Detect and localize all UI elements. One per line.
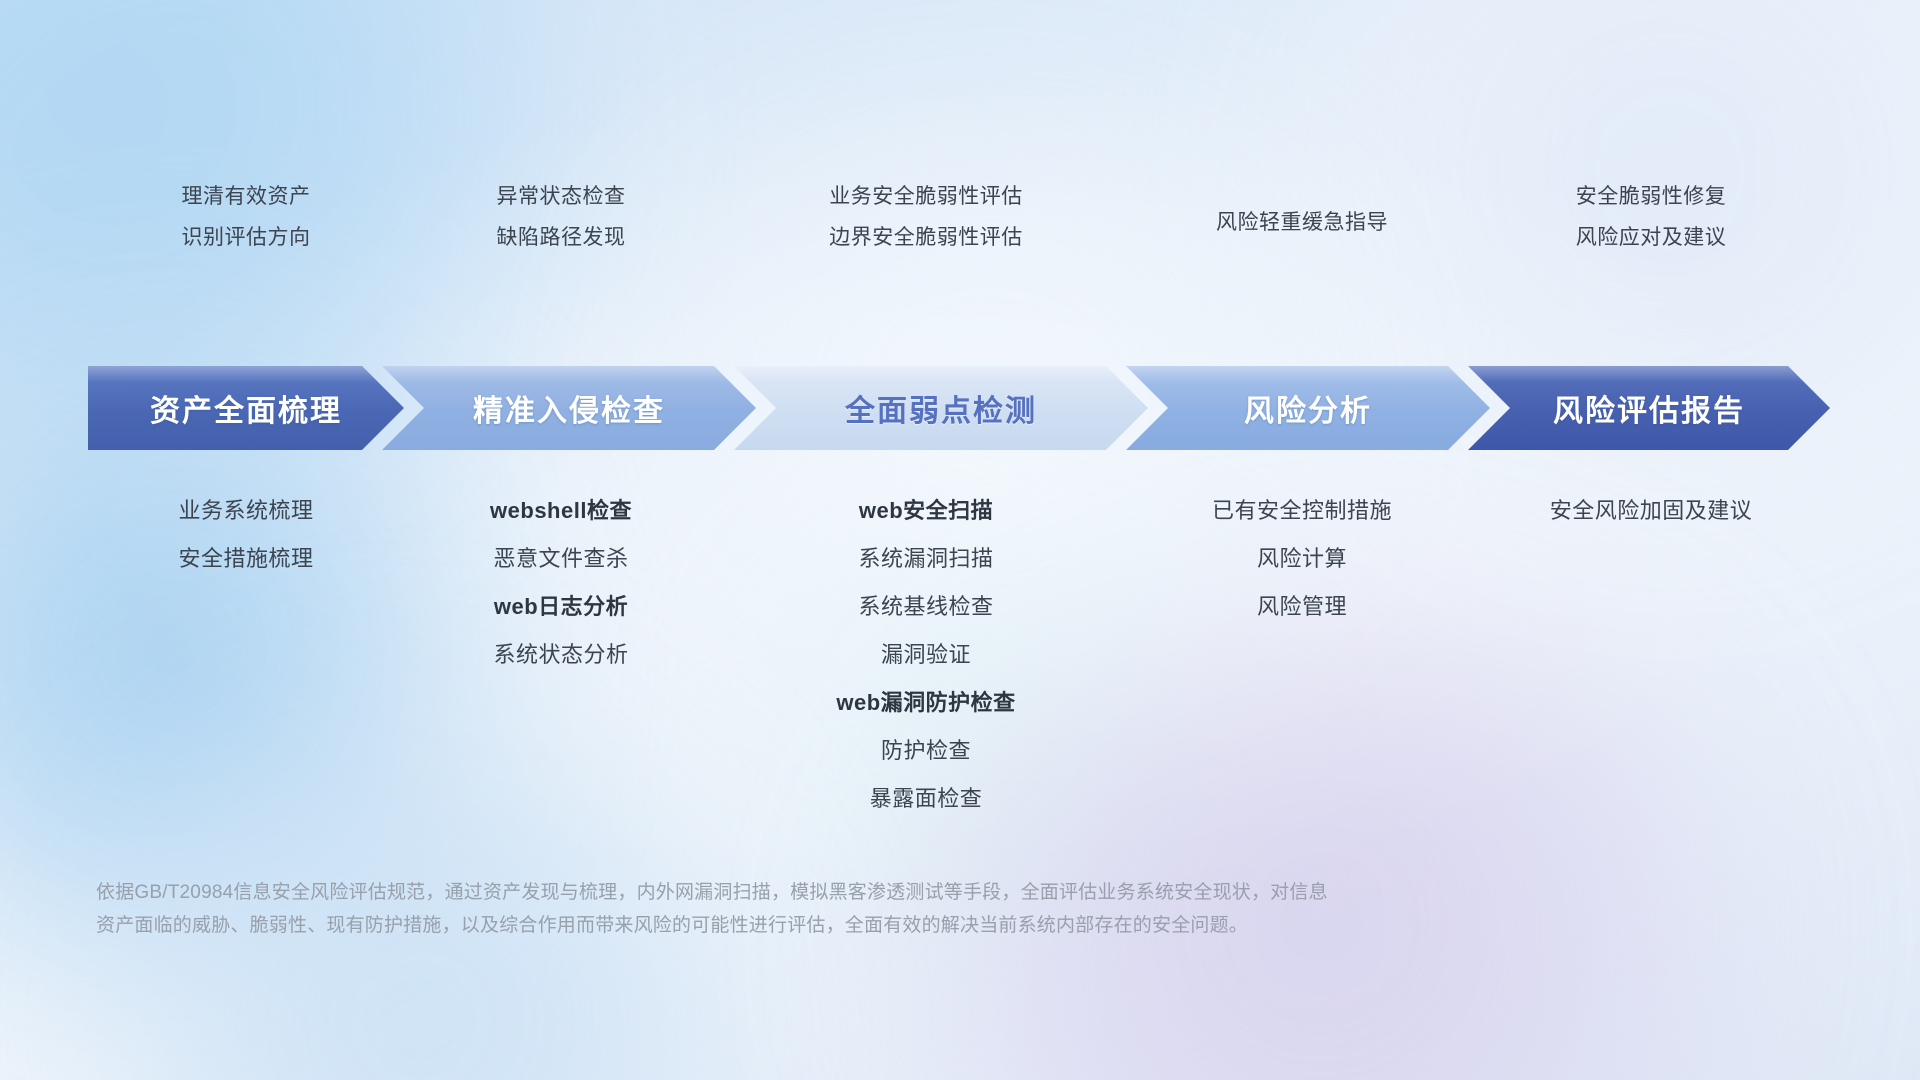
process-step-risk-analysis[interactable]: 风险分析 [1126, 366, 1490, 450]
footer-description-line: 依据GB/T20984信息安全风险评估规范，通过资产发现与梳理，内外网漏洞扫描，… [96, 876, 1616, 909]
stage-detail-item: 风险管理 [1257, 596, 1347, 618]
stage-detail-item: 防护检查 [881, 740, 971, 762]
chevron-highlight [88, 366, 404, 382]
stage-input-item: 安全脆弱性修复 [1576, 186, 1727, 207]
stage-details-weakness-detection: web安全扫描 系统漏洞扫描 系统基线检查 漏洞验证 web漏洞防护检查 防护检… [726, 500, 1126, 810]
stage-detail-item: 漏洞验证 [881, 644, 971, 666]
footer-description: 依据GB/T20984信息安全风险评估规范，通过资产发现与梳理，内外网漏洞扫描，… [96, 876, 1616, 943]
process-step-weakness-detection[interactable]: 全面弱点检测 [734, 366, 1148, 450]
stage-input-item: 风险轻重缓急指导 [1216, 212, 1388, 233]
stage-details-intrusion-check: webshell检查 恶意文件查杀 web日志分析 系统状态分析 [396, 500, 726, 666]
process-step-risk-report[interactable]: 风险评估报告 [1468, 366, 1830, 450]
stage-input-item: 异常状态检查 [497, 186, 626, 207]
process-step-label: 资产全面梳理 [150, 386, 342, 430]
infographic-canvas: 理清有效资产 识别评估方向 异常状态检查 缺陷路径发现 业务安全脆弱性评估 边界… [0, 0, 1920, 1080]
stage-input-item: 理清有效资产 [182, 186, 311, 207]
stage-inputs-weakness-detection: 业务安全脆弱性评估 边界安全脆弱性评估 [726, 186, 1126, 248]
process-step-label: 精准入侵检查 [473, 386, 665, 430]
stage-detail-item: 恶意文件查杀 [493, 548, 628, 570]
stage-detail-item: 系统基线检查 [858, 596, 993, 618]
footer-description-line: 资产面临的威胁、脆弱性、现有防护措施，以及综合作用而带来风险的可能性进行评估，全… [96, 909, 1616, 942]
stage-details-risk-analysis: 已有安全控制措施 风险计算 风险管理 [1126, 500, 1478, 618]
stage-input-item: 业务安全脆弱性评估 [829, 186, 1023, 207]
stage-detail-item: 系统漏洞扫描 [858, 548, 993, 570]
chevron-highlight [1468, 366, 1830, 382]
stage-detail-item: 已有安全控制措施 [1212, 500, 1392, 522]
stage-input-item: 缺陷路径发现 [497, 227, 626, 248]
process-chevron-band: 资产全面梳理 精准入侵检查 全面弱点检测 风险分析 风险评估报告 [88, 366, 1830, 450]
stage-details-row: 业务系统梳理 安全措施梳理 webshell检查 恶意文件查杀 web日志分析 … [96, 500, 1824, 810]
stage-inputs-asset-inventory: 理清有效资产 识别评估方向 [96, 186, 396, 248]
stage-inputs-risk-report: 安全脆弱性修复 风险应对及建议 [1478, 186, 1824, 248]
chevron-highlight [382, 366, 756, 382]
process-step-label: 全面弱点检测 [845, 386, 1037, 430]
stage-detail-item: 暴露面检查 [870, 788, 983, 810]
stage-input-item: 风险应对及建议 [1576, 227, 1727, 248]
process-step-label: 风险评估报告 [1553, 386, 1745, 430]
stage-detail-item: 安全风险加固及建议 [1550, 500, 1753, 522]
stage-detail-item: 系统状态分析 [493, 644, 628, 666]
chevron-highlight [1126, 366, 1490, 382]
stage-detail-item: web漏洞防护检查 [836, 692, 1015, 714]
stage-detail-item: web安全扫描 [859, 500, 993, 522]
stage-detail-item: webshell检查 [490, 500, 632, 522]
stage-detail-item: 业务系统梳理 [178, 500, 313, 522]
chevron-highlight [734, 366, 1148, 382]
stage-inputs-risk-analysis: 风险轻重缓急指导 [1126, 186, 1478, 233]
stage-detail-item: 安全措施梳理 [178, 548, 313, 570]
stage-details-risk-report: 安全风险加固及建议 [1478, 500, 1824, 522]
stage-detail-item: 风险计算 [1257, 548, 1347, 570]
stage-inputs-intrusion-check: 异常状态检查 缺陷路径发现 [396, 186, 726, 248]
infographic-content: 理清有效资产 识别评估方向 异常状态检查 缺陷路径发现 业务安全脆弱性评估 边界… [0, 0, 1920, 1080]
stage-inputs-row: 理清有效资产 识别评估方向 异常状态检查 缺陷路径发现 业务安全脆弱性评估 边界… [96, 186, 1824, 248]
process-step-asset-inventory[interactable]: 资产全面梳理 [88, 366, 404, 450]
stage-details-asset-inventory: 业务系统梳理 安全措施梳理 [96, 500, 396, 570]
stage-input-item: 识别评估方向 [182, 227, 311, 248]
stage-detail-item: web日志分析 [494, 596, 628, 618]
process-step-intrusion-check[interactable]: 精准入侵检查 [382, 366, 756, 450]
stage-input-item: 边界安全脆弱性评估 [829, 227, 1023, 248]
process-step-label: 风险分析 [1244, 386, 1372, 430]
